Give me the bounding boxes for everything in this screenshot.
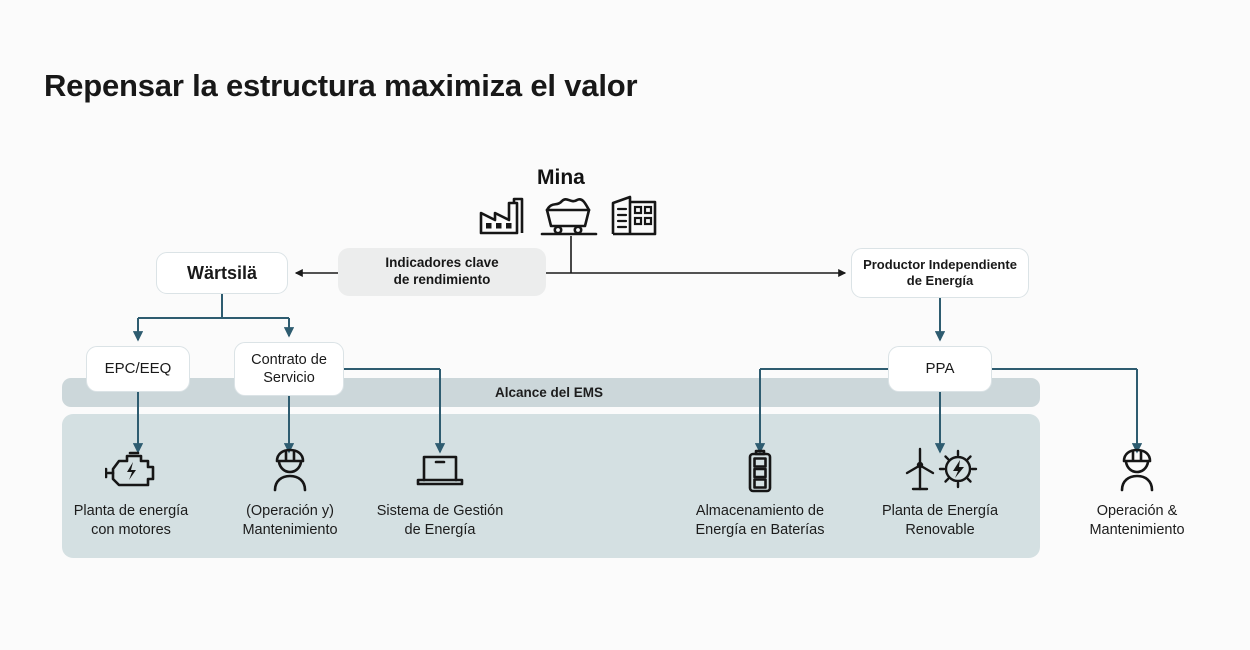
node-ipp-line1: Productor Independiente bbox=[863, 257, 1017, 272]
leaf-om2-line2: Mantenimiento bbox=[1089, 522, 1184, 538]
leaf-om2-label: Operación & Mantenimiento bbox=[1037, 502, 1237, 541]
leaf-operation-maintenance-2[interactable]: Operación & Mantenimiento bbox=[1037, 446, 1237, 541]
leaf-renew-line2: Renovable bbox=[905, 522, 974, 538]
leaf-om1-line2: Mantenimiento bbox=[242, 522, 337, 538]
node-contrato-line2: Servicio bbox=[263, 370, 315, 386]
node-wartsila-label: Wärtsilä bbox=[187, 262, 257, 285]
factory-icon bbox=[478, 196, 528, 236]
leaf-engine-line2: con motores bbox=[91, 522, 171, 538]
leaf-ems-label: Sistema de Gestión de Energía bbox=[340, 502, 540, 541]
leaf-ems-line2: de Energía bbox=[405, 522, 476, 538]
node-kpi-line2: de rendimiento bbox=[394, 272, 491, 287]
office-building-icon bbox=[610, 194, 658, 236]
mine-cart-icon bbox=[540, 194, 598, 236]
node-epc-label: EPC/EEQ bbox=[105, 360, 172, 379]
node-ppa[interactable]: PPA bbox=[888, 346, 992, 392]
leaf-battery-line1: Almacenamiento de bbox=[696, 503, 824, 519]
node-independent-power-producer[interactable]: Productor Independiente de Energía bbox=[851, 248, 1029, 298]
node-ipp-label: Productor Independiente de Energía bbox=[863, 257, 1017, 290]
wind-turbine-sun-icon bbox=[840, 446, 1040, 494]
mina-label: Mina bbox=[537, 166, 585, 190]
diagram-canvas: Repensar la estructura maximiza el valor… bbox=[0, 0, 1250, 650]
mina-icon-group bbox=[478, 192, 658, 236]
leaf-battery-line2: Energía en Baterías bbox=[696, 522, 825, 538]
leaf-renewable-power-plant[interactable]: Planta de Energía Renovable bbox=[840, 446, 1040, 541]
node-contrato-label: Contrato de Servicio bbox=[251, 351, 327, 387]
leaf-battery-label: Almacenamiento de Energía en Baterías bbox=[660, 502, 860, 541]
leaf-om2-line1: Operación & bbox=[1097, 503, 1178, 519]
leaf-energy-management-system[interactable]: Sistema de Gestión de Energía bbox=[340, 446, 540, 541]
node-kpi-line1: Indicadores clave bbox=[385, 255, 498, 270]
node-contrato-line1: Contrato de bbox=[251, 352, 327, 368]
leaf-renew-line1: Planta de Energía bbox=[882, 503, 998, 519]
laptop-icon bbox=[340, 446, 540, 494]
leaf-renew-label: Planta de Energía Renovable bbox=[840, 502, 1040, 541]
leaf-om1-line1: (Operación y) bbox=[246, 503, 334, 519]
battery-icon bbox=[660, 446, 860, 494]
node-kpi-label: Indicadores clave de rendimiento bbox=[385, 255, 498, 289]
node-ipp-line2: de Energía bbox=[907, 273, 973, 288]
leaf-battery-energy-storage[interactable]: Almacenamiento de Energía en Baterías bbox=[660, 446, 860, 541]
node-wartsila[interactable]: Wärtsilä bbox=[156, 252, 288, 294]
node-contrato-de-servicio[interactable]: Contrato de Servicio bbox=[234, 342, 344, 396]
node-epc-eeq[interactable]: EPC/EEQ bbox=[86, 346, 190, 392]
leaf-engine-line1: Planta de energía bbox=[74, 503, 188, 519]
node-ppa-label: PPA bbox=[926, 360, 955, 379]
worker-helmet-icon bbox=[1037, 446, 1237, 494]
node-kpi[interactable]: Indicadores clave de rendimiento bbox=[338, 248, 546, 296]
leaf-ems-line1: Sistema de Gestión bbox=[377, 503, 504, 519]
connector-lines bbox=[0, 0, 1250, 650]
wartsila-branch-group bbox=[138, 294, 289, 340]
